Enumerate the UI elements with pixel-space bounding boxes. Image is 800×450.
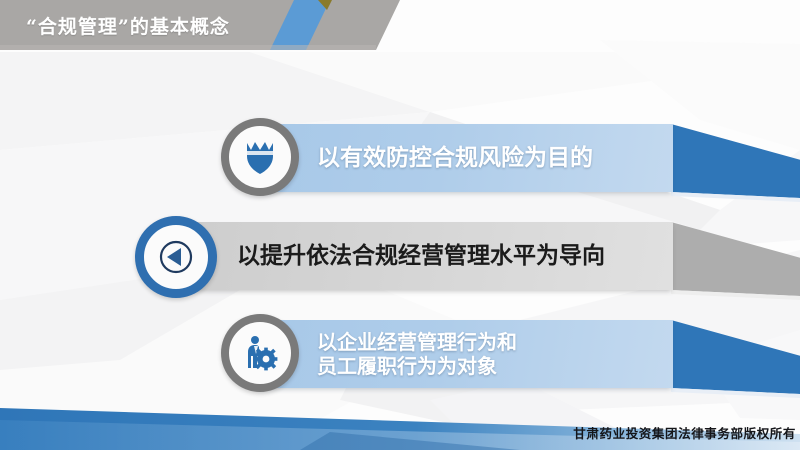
bar-end-cap-blue	[671, 116, 800, 202]
person-gear-icon	[241, 334, 279, 372]
person-gear-icon-circle	[221, 314, 299, 392]
bar-end-cap-blue-2	[671, 312, 800, 398]
slide-canvas: “合规管理”的基本概念 以有效防控合规风险为目的 以提升依法合规经营管理水平为导…	[0, 0, 800, 450]
concept-bar-object: 以企业经营管理行为和 员工履职行为为对象	[255, 320, 673, 388]
bar-end-cap-gray	[671, 214, 800, 300]
shield-crown-icon	[242, 138, 278, 176]
page-title: “合规管理”的基本概念	[26, 0, 230, 50]
play-triangle-left-icon	[156, 237, 196, 277]
concept-label-orientation: 以提升依法合规经营管理水平为导向	[237, 242, 605, 270]
concept-label-purpose: 以有效防控合规风险为目的	[317, 144, 593, 172]
shield-crown-icon-circle	[221, 118, 299, 196]
play-triangle-left-icon-circle	[135, 216, 217, 298]
concept-bar-purpose: 以有效防控合规风险为目的	[255, 124, 673, 192]
concept-bar-orientation: 以提升依法合规经营管理水平为导向	[170, 222, 673, 290]
concept-label-object: 以企业经营管理行为和 员工履职行为为对象	[317, 330, 517, 379]
footer-copyright: 甘肃药业投资集团法律事务部版权所有	[573, 423, 796, 442]
